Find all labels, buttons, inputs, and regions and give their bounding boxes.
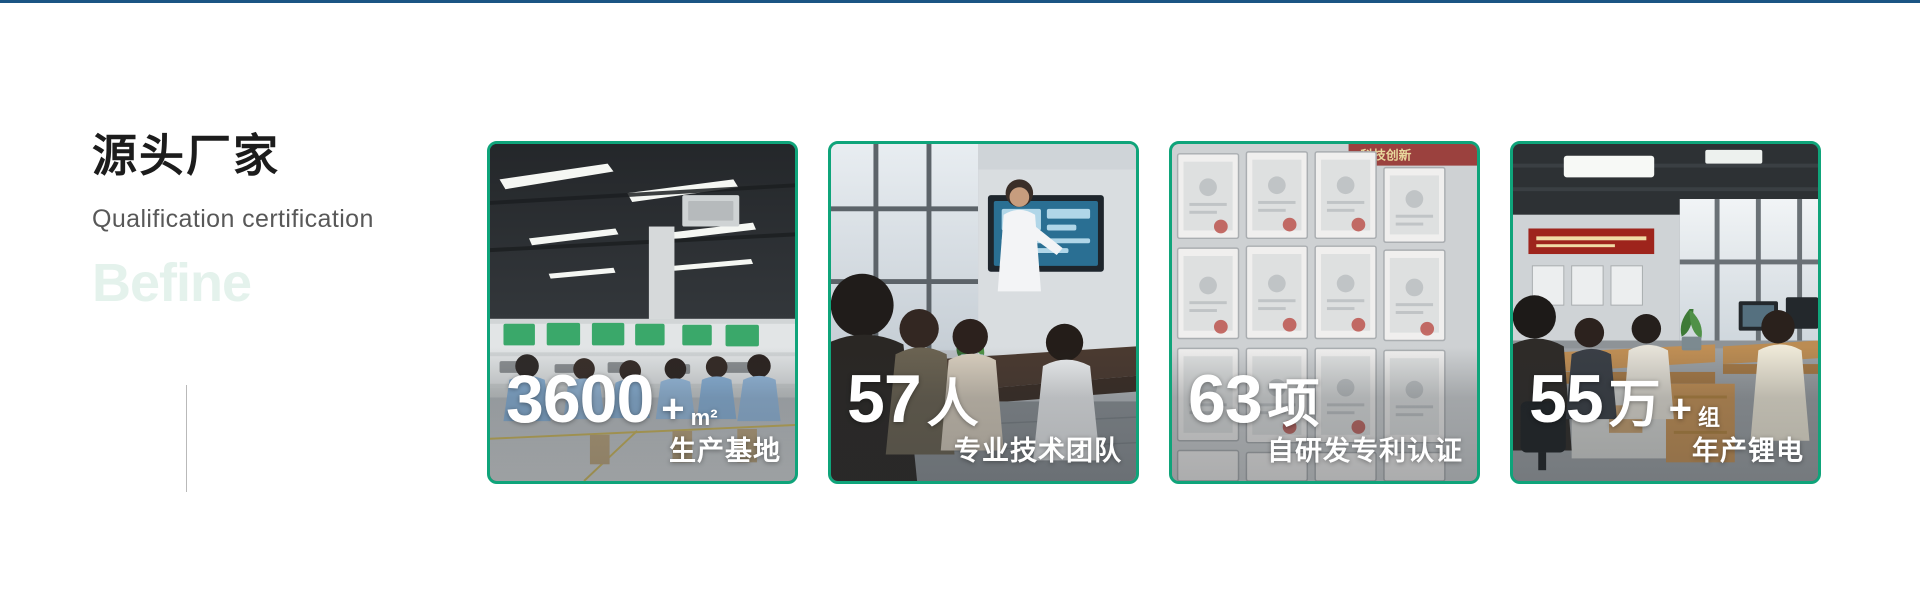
- stat-overlay: 63 项 自研发专利认证: [1172, 365, 1477, 467]
- stat-unit: 万: [1609, 379, 1661, 431]
- stat-plus-sign: +: [1667, 389, 1692, 429]
- stat-card-row: 3600 + m² 生产基地: [487, 141, 1821, 484]
- stat-plus-sign: +: [659, 389, 684, 429]
- stat-card-technical-team[interactable]: 57 人 专业技术团队: [828, 141, 1139, 484]
- stat-number: 57: [847, 365, 921, 433]
- stat-number: 63: [1188, 365, 1262, 433]
- stat-overlay: 55 万 + 组 年产锂电: [1513, 365, 1818, 467]
- intro-block: 源头厂家 Qualification certification Befine: [92, 132, 472, 310]
- stat-card-patents[interactable]: 科技创新: [1169, 141, 1480, 484]
- stat-top-row: 3600 + m²: [506, 365, 781, 433]
- stat-overlay: 3600 + m² 生产基地: [490, 365, 795, 467]
- stat-suffix: m²: [691, 407, 718, 433]
- stat-unit: 人: [927, 379, 979, 431]
- stat-suffix: 组: [1698, 407, 1720, 433]
- stat-label: 专业技术团队: [847, 437, 1122, 467]
- stat-top-row: 57 人: [847, 365, 1122, 433]
- stat-overlay: 57 人 专业技术团队: [831, 365, 1136, 467]
- qualification-certification-banner: 源头厂家 Qualification certification Befine: [0, 0, 1920, 605]
- stat-number: 55: [1529, 365, 1603, 433]
- page-title: 源头厂家: [92, 132, 472, 179]
- page-subtitle: Qualification certification: [92, 205, 472, 234]
- stat-card-production-base[interactable]: 3600 + m² 生产基地: [487, 141, 798, 484]
- top-divider-rule: [0, 0, 1920, 3]
- stat-label: 生产基地: [506, 437, 781, 467]
- stat-label: 年产锂电: [1529, 437, 1804, 467]
- vertical-divider: [186, 385, 187, 492]
- stat-card-annual-output[interactable]: 55 万 + 组 年产锂电: [1510, 141, 1821, 484]
- stat-top-row: 55 万 + 组: [1529, 365, 1804, 433]
- stat-top-row: 63 项: [1188, 365, 1463, 433]
- stat-unit: 项: [1268, 379, 1320, 431]
- stat-number: 3600: [506, 365, 653, 433]
- brand-watermark: Befine: [92, 256, 472, 310]
- stat-label: 自研发专利认证: [1188, 437, 1463, 467]
